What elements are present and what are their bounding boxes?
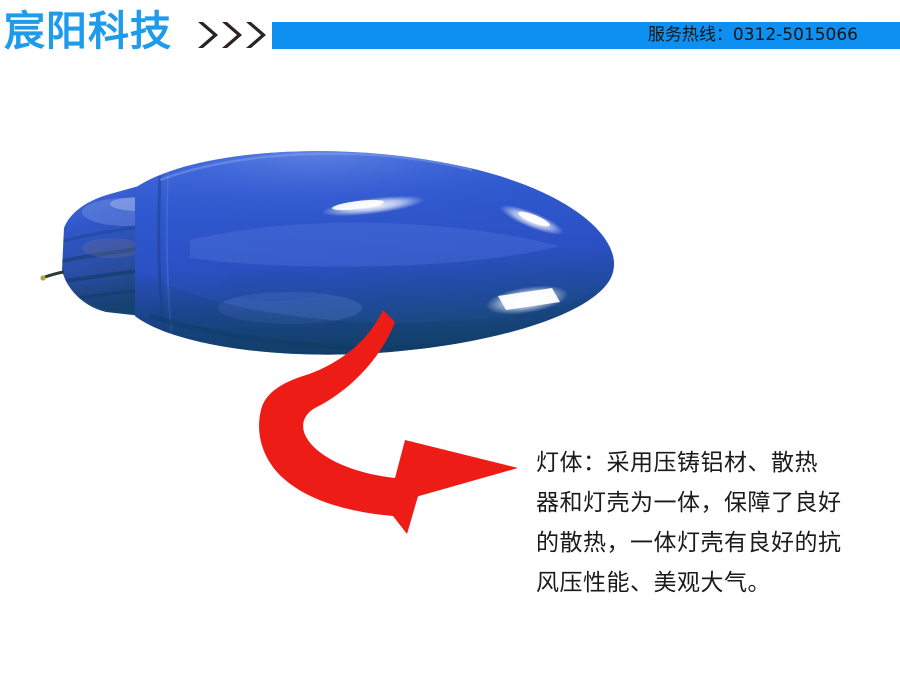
chevron-right-icon-3 [244, 20, 268, 50]
slide-page: 宸阳科技 服务热线：0312-5015066 [0, 0, 900, 700]
page-header: 宸阳科技 服务热线：0312-5015066 [0, 0, 900, 66]
hotline-text: 服务热线：0312-5015066 [428, 22, 858, 49]
chevron-right-icon-1 [196, 20, 220, 50]
chevron-right-icon-2 [220, 20, 244, 50]
brand-logo: 宸阳科技 [4, 7, 172, 55]
caption-block: 灯体：采用压铸铝材、散热 器和灯壳为一体，保障了良好 的散热，一体灯壳有良好的抗… [536, 443, 866, 603]
caption-line-3: 的散热，一体灯壳有良好的抗 [536, 523, 866, 563]
caption-line-1: 灯体：采用压铸铝材、散热 [536, 443, 866, 483]
caption-line-2: 器和灯壳为一体，保障了良好 [536, 483, 866, 523]
caption-line-4: 风压性能、美观大气。 [536, 563, 866, 603]
callout-arrow [255, 310, 530, 535]
chevron-group [196, 20, 270, 50]
